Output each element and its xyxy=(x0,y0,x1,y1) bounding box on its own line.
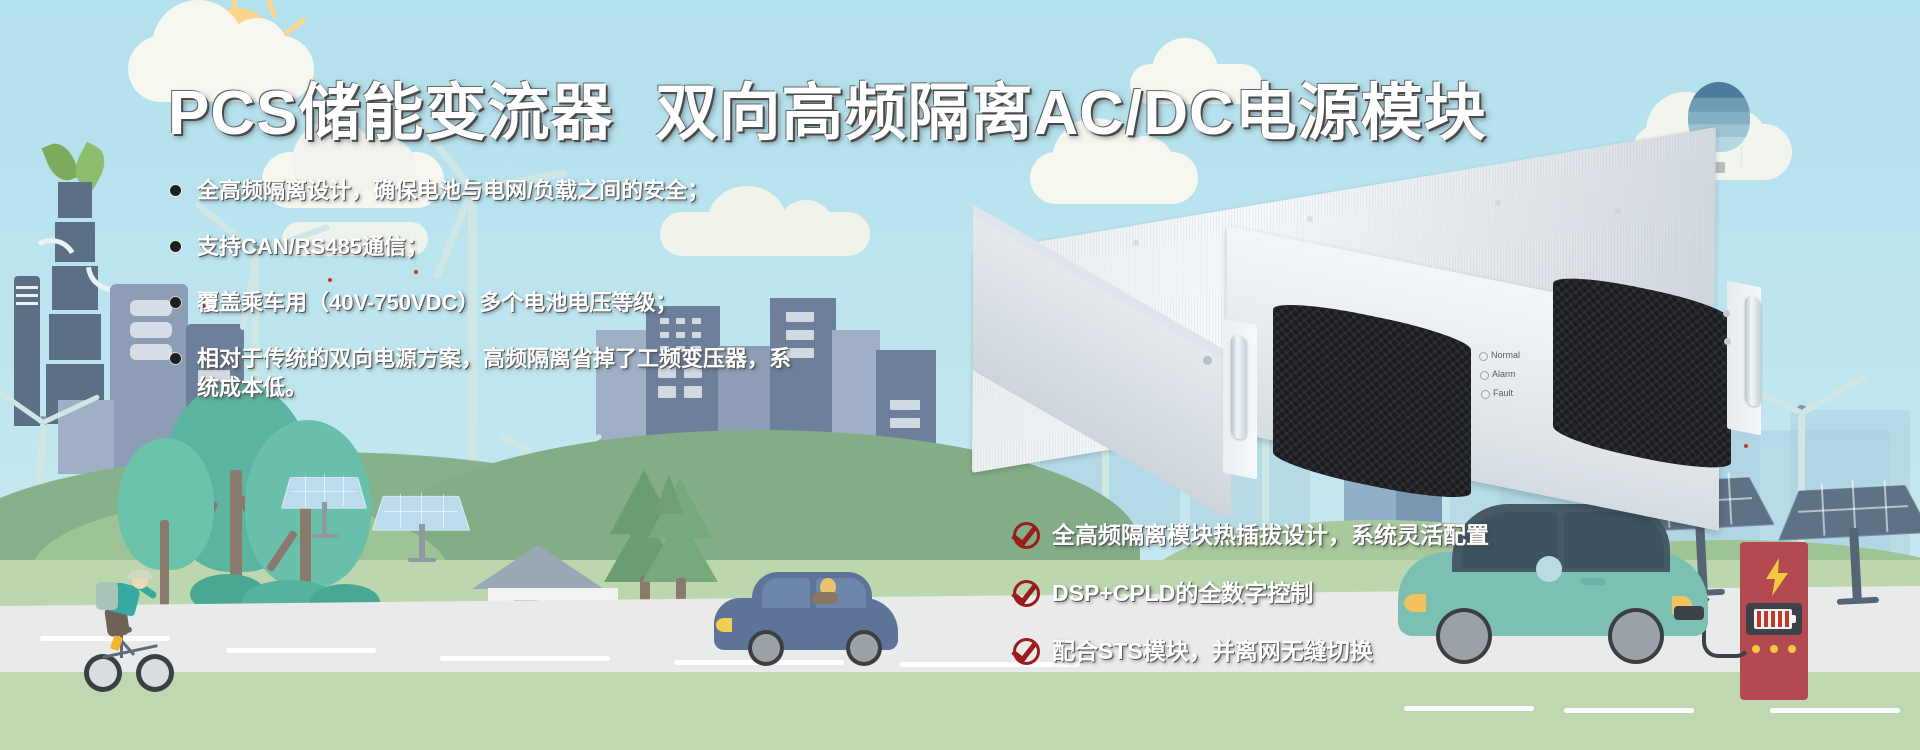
check-circle-icon xyxy=(1013,578,1039,604)
road-marking xyxy=(1564,708,1694,713)
lightning-bolt-glyph xyxy=(1764,558,1790,596)
led-normal xyxy=(1479,352,1488,361)
check-text: 全高频隔离模块热插拔设计，系统灵活配置 xyxy=(1052,516,1489,550)
bullet-dot-icon xyxy=(170,241,181,252)
device-handle xyxy=(1231,333,1247,440)
list-item: 覆盖乘车用（40V-750VDC）多个电池电压等级； xyxy=(170,288,870,317)
promo-banner: Normal Alarm Fault PCS储能变流器双向高频隔离AC/DC电源… xyxy=(0,0,1920,750)
bullet-dot-icon xyxy=(170,353,181,364)
list-item: 全高频隔离模块热插拔设计，系统灵活配置 xyxy=(1013,516,1489,550)
bullet-text: 覆盖乘车用（40V-750VDC）多个电池电压等级； xyxy=(197,288,677,317)
list-item: 配合STS模块，并离网无缝切换 xyxy=(1013,632,1489,666)
road-marking xyxy=(1404,706,1534,711)
check-text: 配合STS模块，并离网无缝切换 xyxy=(1052,632,1373,666)
road-marking xyxy=(226,648,376,653)
road-marking xyxy=(40,636,170,641)
pcs-device-image: Normal Alarm Fault xyxy=(955,180,1835,480)
led-label-normal: Normal xyxy=(1491,350,1520,360)
led-label-alarm: Alarm xyxy=(1492,369,1516,379)
solar-panel xyxy=(378,488,464,534)
led-fault xyxy=(1481,390,1490,399)
bullet-dot-icon xyxy=(170,297,181,308)
list-item: 相对于传统的双向电源方案，高频隔离省掉了工频变压器，系统成本低。 xyxy=(170,344,810,402)
solar-panel-dark xyxy=(1788,473,1917,544)
feature-bullet-list: 全高频隔离设计，确保电池与电网/负载之间的安全； 支持CAN/RS485通信； … xyxy=(170,176,870,429)
solar-panel xyxy=(286,470,362,512)
check-circle-icon xyxy=(1013,636,1039,662)
led-alarm xyxy=(1480,371,1489,380)
bullet-dot-icon xyxy=(170,185,181,196)
device-handle xyxy=(1745,294,1761,407)
list-item: 支持CAN/RS485通信； xyxy=(170,232,870,261)
bullet-text: 全高频隔离设计，确保电池与电网/负载之间的安全； xyxy=(197,176,709,205)
checkmark-feature-list: 全高频隔离模块热插拔设计，系统灵活配置 DSP+CPLD的全数字控制 配合STS… xyxy=(1013,516,1489,690)
title-part-1: PCS储能变流器 xyxy=(168,79,613,148)
road-marking xyxy=(440,656,610,661)
bullet-text: 相对于传统的双向电源方案，高频隔离省掉了工频变压器，系统成本低。 xyxy=(197,344,810,402)
check-circle-icon xyxy=(1013,520,1039,546)
list-item: DSP+CPLD的全数字控制 xyxy=(1013,574,1489,608)
road-marking xyxy=(1770,708,1900,713)
list-item: 全高频隔离设计，确保电池与电网/负载之间的安全； xyxy=(170,176,870,205)
led-label-fault: Fault xyxy=(1493,388,1513,398)
title-part-2: 双向高频隔离AC/DC电源模块 xyxy=(655,79,1486,148)
bullet-text: 支持CAN/RS485通信； xyxy=(197,232,428,261)
page-title: PCS储能变流器双向高频隔离AC/DC电源模块 xyxy=(168,62,1487,152)
check-text: DSP+CPLD的全数字控制 xyxy=(1052,574,1313,608)
